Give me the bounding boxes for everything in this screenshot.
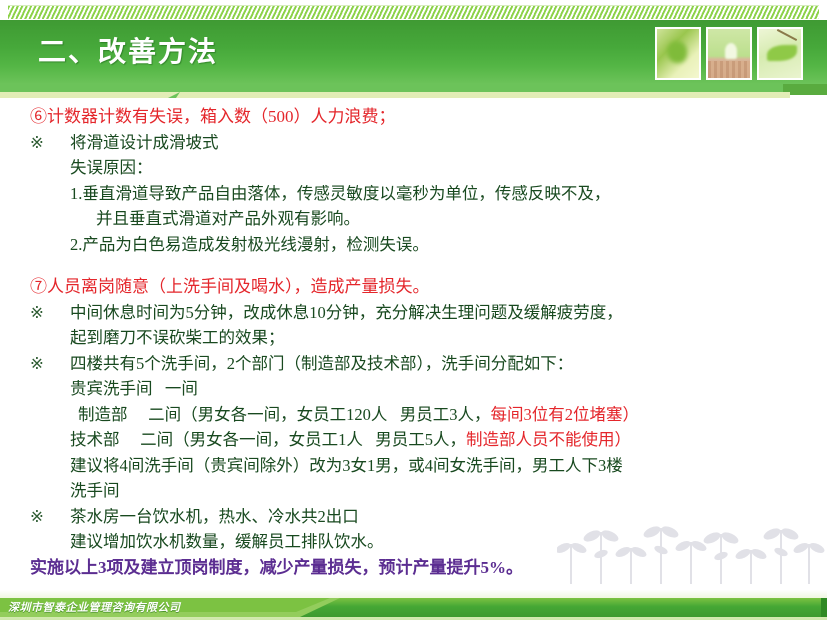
sub-line-highlight: 每间3位有2位堵塞）: [491, 405, 640, 424]
bullet-line: ※四楼共有5个洗手间，2个部门（制造部及技术部），洗手间分配如下：: [0, 351, 827, 377]
bullet-mark: ※: [30, 130, 70, 156]
sub-line: 并且垂直式滑道对产品外观有影响。: [0, 206, 827, 232]
sub-line: 洗手间: [0, 478, 827, 504]
sub-line-text: 技术部 二间（男女各一间，女员工1人 男员工5人，: [70, 430, 466, 449]
bullet-text: 将滑道设计成滑坡式: [70, 133, 219, 152]
slide-footer: 深圳市智泰企业管理咨询有限公司: [0, 590, 827, 620]
sub-line: 2.产品为白色易造成发射极光线漫射，检测失误。: [0, 232, 827, 258]
header-thumbnail-group: [655, 27, 803, 80]
bud-photo-icon: [655, 27, 701, 80]
bullet-line: ※茶水房一台饮水机，热水、冷水共2出口: [0, 504, 827, 530]
conclusion-line: 实施以上3项及建立顶岗制度，减少产量损失，预计产量提升5%。: [0, 555, 827, 581]
footer-company-name: 深圳市智泰企业管理咨询有限公司: [8, 599, 181, 615]
section-heading-6: ⑥计数器计数有失误，箱入数（500）人力浪费；: [0, 104, 827, 130]
page-title: 二、改善方法: [38, 30, 218, 70]
bullet-line: ※将滑道设计成滑坡式: [0, 130, 827, 156]
sub-line: 建议增加饮水机数量，缓解员工排队饮水。: [0, 529, 827, 555]
bullet-text: 中间休息时间为5分钟，改成休息10分钟，充分解决生理问题及缓解疲劳度，: [70, 303, 623, 322]
footer-right-edge: [821, 598, 827, 617]
bullet-mark: ※: [30, 351, 70, 377]
sub-line: 失误原因：: [0, 155, 827, 181]
seedling-photo-icon: [706, 27, 752, 80]
section-heading-7: ⑦人员离岗随意（上洗手间及喝水），造成产量损失。: [0, 274, 827, 300]
sub-line: 起到磨刀不误砍柴工的效果；: [0, 325, 827, 351]
sub-line-text: 制造部 二间（男女各一间，女员工120人 男员工3人，: [78, 405, 491, 424]
slide-root: 二、改善方法 ⑥计数器计数有失误，箱入数（500）人力浪费； ※将滑道设计成滑坡…: [0, 0, 827, 620]
bullet-mark: ※: [30, 504, 70, 530]
leaves-photo-icon: [757, 27, 803, 80]
sub-line: 技术部 二间（男女各一间，女员工1人 男员工5人，制造部人员不能使用）: [0, 427, 827, 453]
slide-header: 二、改善方法: [0, 0, 827, 100]
block-spacer: [0, 257, 827, 274]
bullet-line: ※中间休息时间为5分钟，改成休息10分钟，充分解决生理问题及缓解疲劳度，: [0, 300, 827, 326]
header-notch-shape: [0, 84, 827, 102]
sub-line: 贵宾洗手间 一间: [0, 376, 827, 402]
sub-line: 建议将4间洗手间（贵宾间除外）改为3女1男，或4间女洗手间，男工人下3楼: [0, 453, 827, 479]
slide-content: ⑥计数器计数有失误，箱入数（500）人力浪费； ※将滑道设计成滑坡式 失误原因：…: [0, 104, 827, 574]
header-hatch-strip: [8, 5, 819, 21]
sub-line: 制造部 二间（男女各一间，女员工120人 男员工3人，每间3位有2位堵塞）: [0, 402, 827, 428]
sub-line: 1.垂直滑道导致产品自由落体，传感灵敏度以毫秒为单位，传感反映不及，: [0, 181, 827, 207]
bullet-text: 茶水房一台饮水机，热水、冷水共2出口: [70, 507, 359, 526]
sub-line-highlight: 制造部人员不能使用）: [466, 430, 631, 449]
bullet-mark: ※: [30, 300, 70, 326]
bullet-text: 四楼共有5个洗手间，2个部门（制造部及技术部），洗手间分配如下：: [70, 354, 573, 373]
